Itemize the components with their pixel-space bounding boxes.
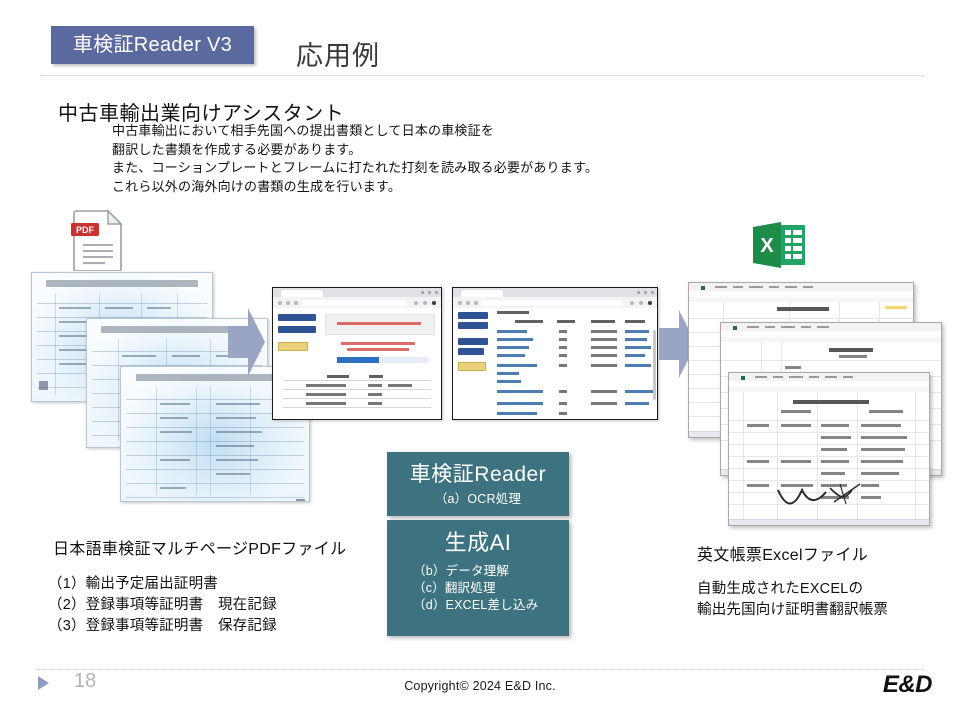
title-badge: 車検証Reader V3 <box>51 26 254 64</box>
divider-top <box>40 75 924 76</box>
process-box-generative-ai-steps: （b）データ理解 （c）翻訳処理 （d）EXCEL差し込み <box>387 557 569 614</box>
process-box-generative-ai-title: 生成AI <box>387 520 569 557</box>
browser-window-upload <box>272 287 442 420</box>
copyright-text: Copyright© 2024 E&D Inc. <box>0 679 960 693</box>
flow-arrow-right-1 <box>228 306 266 378</box>
browser-content <box>273 308 441 419</box>
browser-scrollbar[interactable] <box>653 330 656 400</box>
output-caption: 英文帳票Excelファイル <box>697 541 868 565</box>
pdf-file-icon: PDF <box>70 209 126 271</box>
output-note: 自動生成されたEXCELの 輸出先国向け証明書翻訳帳票 <box>697 579 888 621</box>
svg-text:PDF: PDF <box>76 225 95 235</box>
browser-content <box>453 308 657 419</box>
slide-root: 車検証Reader V3 応用例 中古車輸出業向けアシスタント 中古車輸出におい… <box>0 0 960 720</box>
page-title: 応用例 <box>296 34 380 73</box>
process-box-reader-steps: （a）OCR処理 <box>387 488 569 508</box>
process-box-generative-ai: 生成AI （b）データ理解 （c）翻訳処理 （d）EXCEL差し込み <box>387 520 569 636</box>
input-item-list: （1）輸出予定届出証明書 （2）登録事項等証明書 現在記録 （3）登録事項等証明… <box>48 574 277 637</box>
input-document-stack <box>28 272 238 507</box>
excel-window-registration-record <box>728 372 930 526</box>
description-text: 中古車輸出において相手先国への提出書類として日本の車検証を 翻訳した書類を作成す… <box>112 122 598 196</box>
process-box-reader-title: 車検証Reader <box>387 452 569 488</box>
process-box-reader: 車検証Reader （a）OCR処理 <box>387 452 569 516</box>
excel-file-icon: X <box>751 219 807 271</box>
input-caption: 日本語車検証マルチページPDFファイル <box>53 535 346 559</box>
divider-bottom <box>36 669 924 670</box>
browser-window-filelist <box>452 287 658 420</box>
svg-text:X: X <box>760 235 774 257</box>
brand-logo: E&D <box>883 671 932 699</box>
output-excel-stack <box>676 282 934 532</box>
